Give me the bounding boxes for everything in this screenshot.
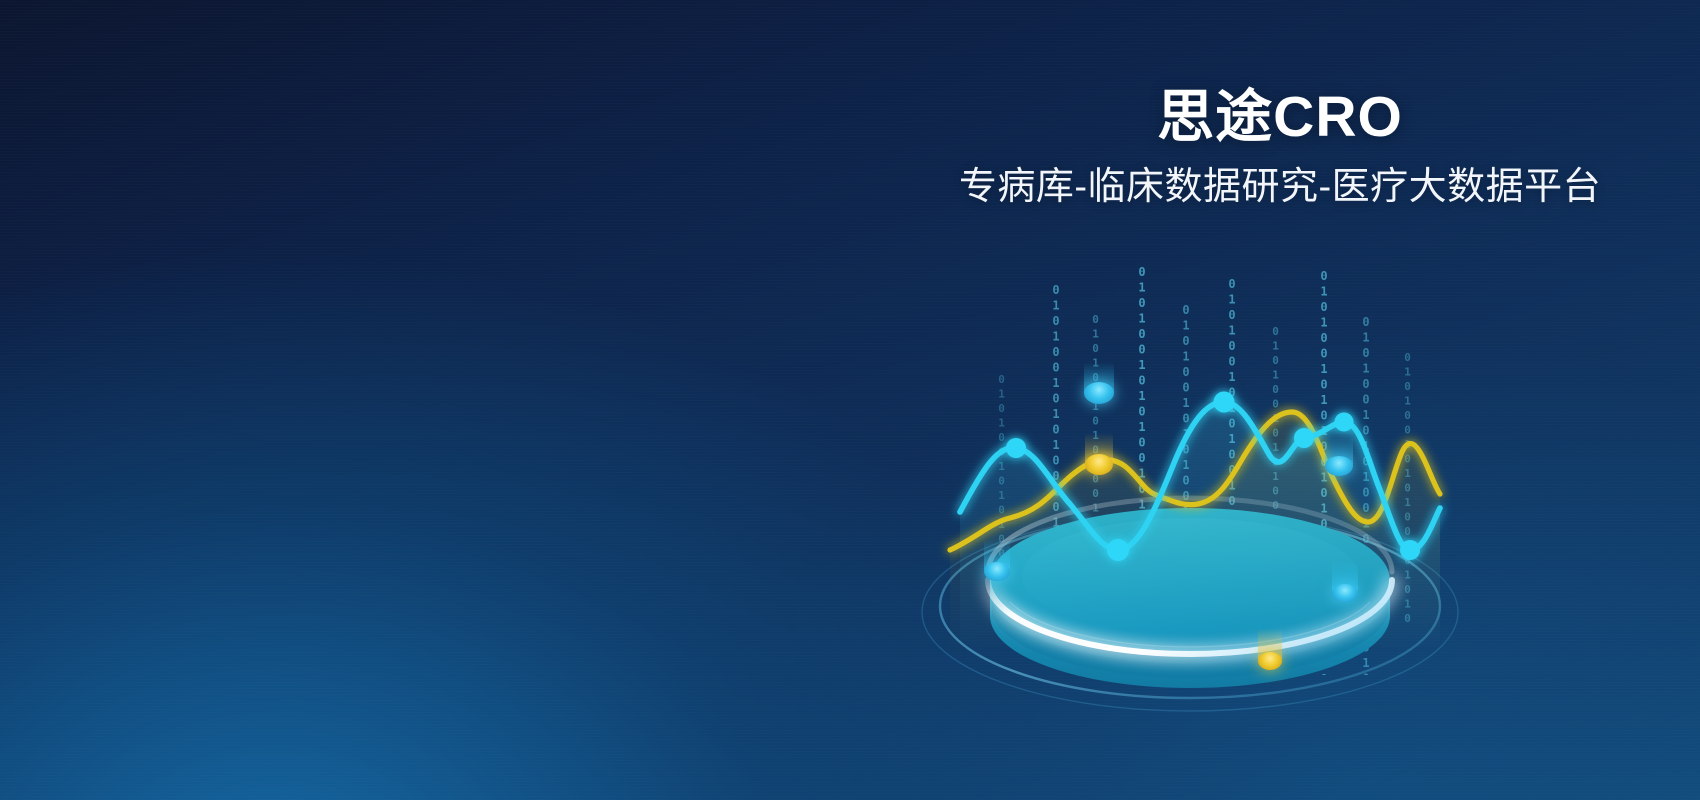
banner-heading: 思途CRO 专病库-临床数据研究-医疗大数据平台 bbox=[940, 85, 1620, 210]
data-platform-illustration bbox=[940, 250, 1440, 720]
hero-banner: 思途CRO 专病库-临床数据研究-医疗大数据平台 010100101010010… bbox=[0, 0, 1700, 800]
page-title: 思途CRO bbox=[940, 85, 1620, 151]
page-subtitle: 专病库-临床数据研究-医疗大数据平台 bbox=[940, 165, 1620, 211]
